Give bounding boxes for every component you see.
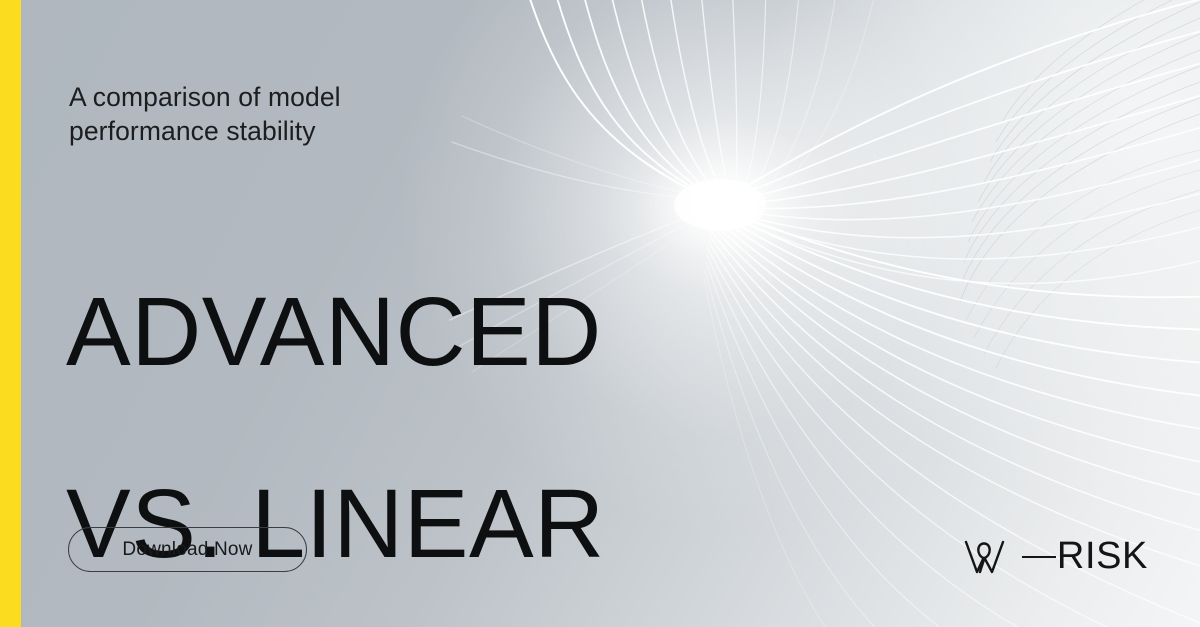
banner-content: A comparison of model performance stabil…: [0, 0, 1200, 627]
logo-wordmark: RISK: [1057, 537, 1148, 575]
logo-separator-dash: [1022, 556, 1056, 558]
w-monogram-icon: [962, 536, 1020, 578]
download-now-button[interactable]: Download Now: [68, 527, 307, 572]
eyebrow-text: A comparison of model performance stabil…: [69, 80, 489, 149]
headline-line-1: ADVANCED: [66, 284, 786, 380]
promo-banner: A comparison of model performance stabil…: [0, 0, 1200, 627]
brand-logo[interactable]: RISK: [962, 534, 1148, 580]
